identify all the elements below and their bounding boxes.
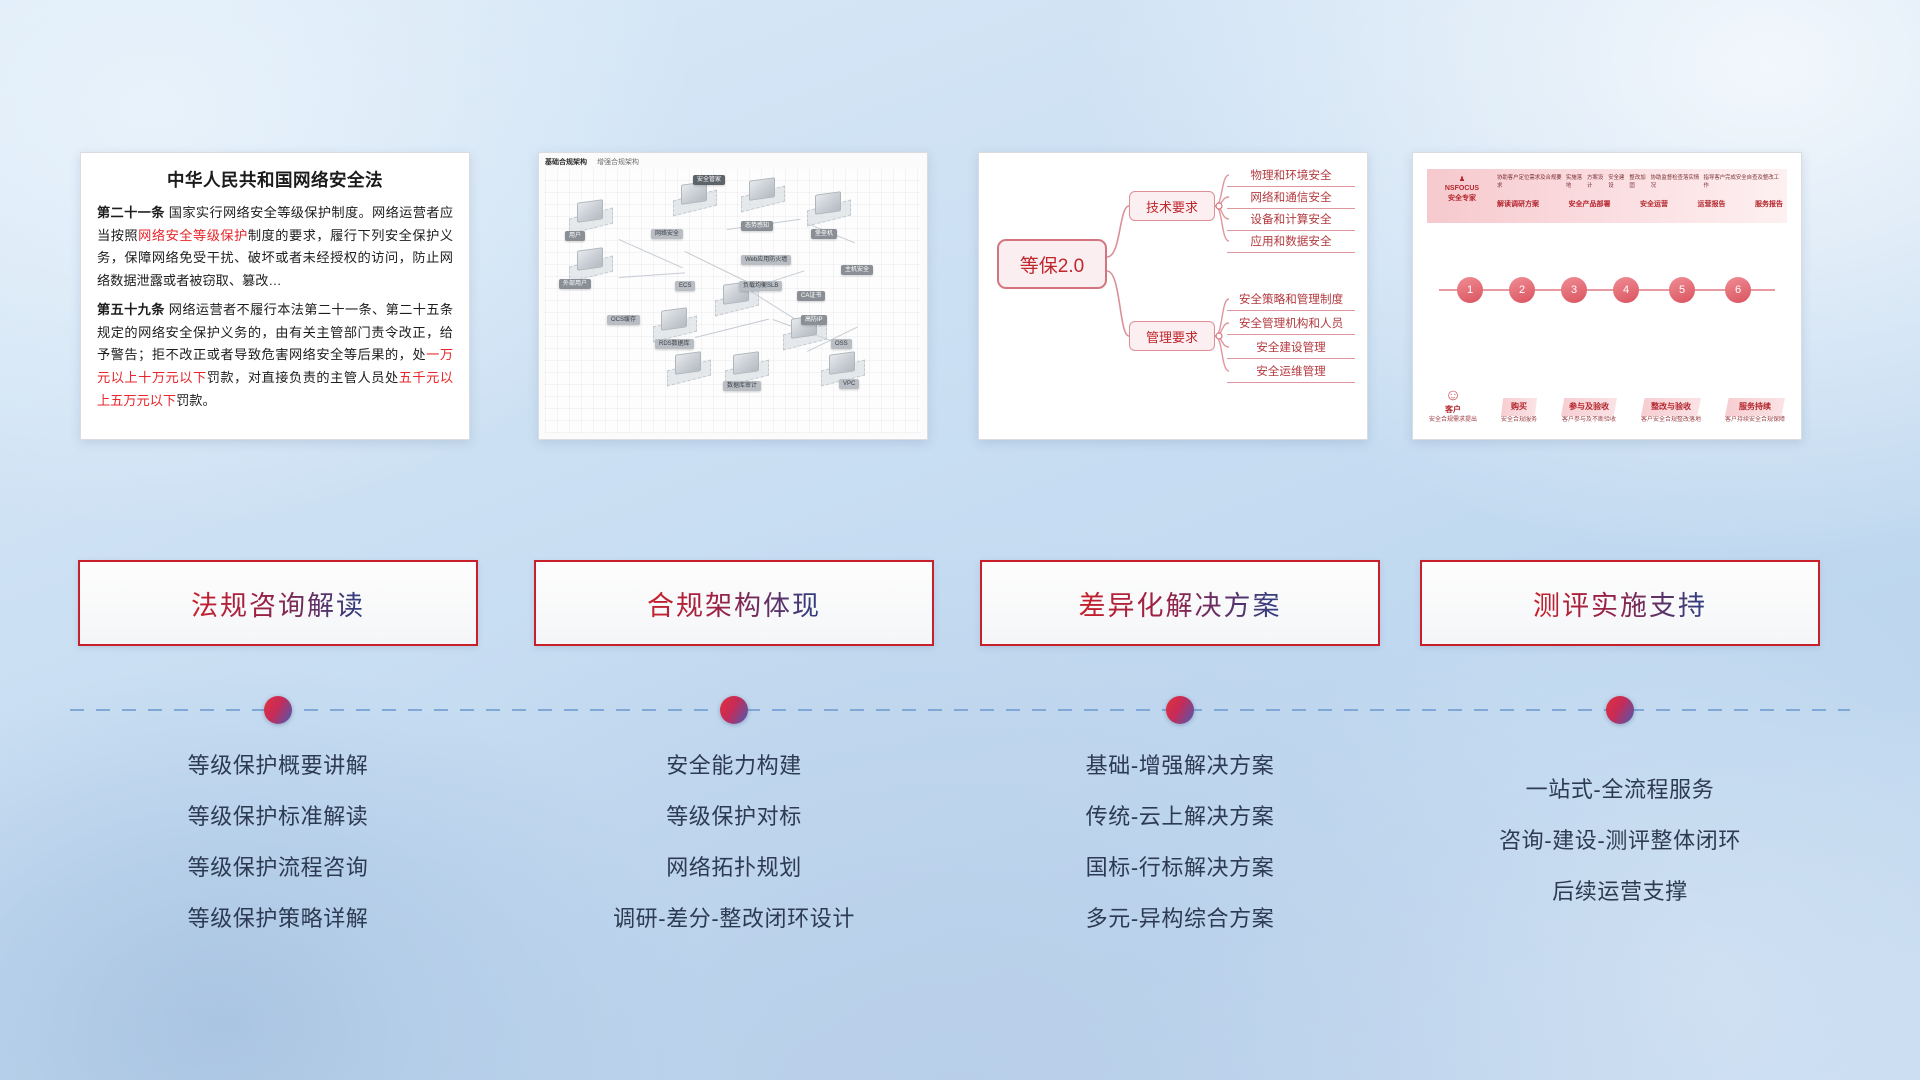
timeline-dot-3[interactable] — [1166, 696, 1194, 724]
arch-node-label: 负载均衡SLB — [739, 281, 782, 291]
mindmap-leaf: 设备和计算安全 — [1227, 211, 1355, 231]
timeline-dashed-line — [70, 709, 1850, 711]
image-cards-row: 中华人民共和国网络安全法 第二十一条 国家实行网络安全等级保护制度。网络运营者应… — [0, 152, 1920, 444]
arch-node-icon — [749, 177, 775, 201]
arch-node-label: 用户 — [565, 231, 585, 241]
roadmap-canvas: ♟ NSFOCUS 安全专家 协助客户定位需求及合规要求 实施落地 方案设计 安… — [1413, 153, 1801, 439]
arch-node-label: 数据库审计 — [723, 381, 761, 391]
card-law-document[interactable]: 中华人民共和国网络安全法 第二十一条 国家实行网络安全等级保护制度。网络运营者应… — [80, 152, 470, 440]
category-boxes-row: 法规咨询解读 合规架构体现 差异化解决方案 测评实施支持 — [0, 560, 1920, 650]
slide-canvas: 中华人民共和国网络安全法 第二十一条 国家实行网络安全等级保护制度。网络运营者应… — [0, 0, 1920, 1080]
arch-node-label: 态势感知 — [741, 221, 773, 231]
roadmap-footer-item: 参与及验收 客户参与及不断验收 — [1561, 398, 1617, 425]
arch-link — [619, 272, 685, 278]
list-item: 基础-增强解决方案 — [980, 740, 1380, 791]
list-item: 后续运营支撑 — [1420, 866, 1820, 917]
roadmap-footer-item: 整改与验收 客户安全合规整改落地 — [1641, 398, 1701, 425]
arch-node-label: RDS数据库 — [655, 339, 694, 349]
arch-node-icon — [829, 351, 855, 375]
arch-node-label: 高防IP — [801, 315, 827, 325]
roadmap-head-item: 指导客户完成安全自查及整改工作 — [1704, 173, 1783, 189]
architecture-tabs: 基础合规架构 增强合规架构 — [545, 157, 639, 167]
card-service-roadmap[interactable]: ♟ NSFOCUS 安全专家 协助客户定位需求及合规要求 实施落地 方案设计 安… — [1412, 152, 1802, 440]
roadmap-step: 2 — [1509, 277, 1535, 303]
roadmap-head-item: 实施落地 — [1566, 173, 1587, 189]
roadmap-footer-item-title: 服务持续 — [1725, 398, 1785, 416]
mindmap-leaf: 安全建设管理 — [1227, 339, 1355, 359]
roadmap-step: 6 — [1725, 277, 1751, 303]
law-article-21: 第二十一条 国家实行网络安全等级保护制度。网络运营者应当按照网络安全等级保护制度… — [97, 202, 453, 293]
timeline-dot-1[interactable] — [264, 696, 292, 724]
architecture-canvas-wrap: 基础合规架构 增强合规架构 — [539, 153, 927, 439]
roadmap-sub-item: 运营报告 — [1698, 199, 1726, 209]
list-item: 国标-行标解决方案 — [980, 842, 1380, 893]
mindmap-leaf: 物理和环境安全 — [1227, 167, 1355, 187]
list-item: 调研-差分-整改闭环设计 — [534, 893, 934, 944]
category-label: 法规咨询解读 — [191, 584, 365, 623]
list-item: 咨询-建设-测评整体闭环 — [1420, 815, 1820, 866]
roadmap-brand-line1: NSFOCUS — [1433, 184, 1491, 193]
roadmap-client-caption: 安全合规需求提出 — [1429, 416, 1477, 425]
mindmap-leaf: 网络和通信安全 — [1227, 189, 1355, 209]
roadmap-sub-items: 解读调研方案 安全产品部署 安全运营 运营报告 服务报告 — [1497, 199, 1783, 209]
roadmap-step: 3 — [1561, 277, 1587, 303]
arch-node-label: OCS缓存 — [607, 315, 640, 325]
arch-node-label: 网络安全 — [651, 229, 683, 239]
list-item: 等级保护概要讲解 — [78, 740, 478, 791]
mindmap-leaf: 安全策略和管理制度 — [1227, 291, 1355, 311]
detail-list-differentiated-solution: 基础-增强解决方案 传统-云上解决方案 国标-行标解决方案 多元-异构综合方案 — [980, 740, 1380, 944]
arch-node-label: VPC — [839, 379, 859, 389]
arch-node-label: ECS — [675, 281, 695, 291]
client-person-icon: ☺ — [1429, 388, 1477, 404]
roadmap-head-item: 安全建设 — [1608, 173, 1629, 189]
list-item: 等级保护流程咨询 — [78, 842, 478, 893]
arch-node-label: 主机安全 — [841, 265, 873, 275]
timeline-dot-2[interactable] — [720, 696, 748, 724]
detail-list-assessment-support: 一站式-全流程服务 咨询-建设-测评整体闭环 后续运营支撑 — [1420, 764, 1820, 917]
category-box-regulation-consulting[interactable]: 法规咨询解读 — [78, 560, 478, 646]
architecture-tab-enhanced[interactable]: 增强合规架构 — [597, 157, 639, 167]
article-21-label: 第二十一条 — [97, 205, 165, 220]
law-title: 中华人民共和国网络安全法 — [97, 167, 453, 192]
mindmap-leaf: 安全运维管理 — [1227, 363, 1355, 383]
roadmap-head-item: 协助客户定位需求及合规要求 — [1497, 173, 1566, 189]
roadmap-sub-item: 解读调研方案 — [1497, 199, 1539, 209]
arch-node-icon — [661, 307, 687, 331]
article-59-text-3: 罚款。 — [176, 393, 216, 408]
roadmap-head-items: 协助客户定位需求及合规要求 实施落地 方案设计 安全建设 整改加固 协助监督检查… — [1497, 173, 1783, 189]
roadmap-sub-item: 安全运营 — [1640, 199, 1668, 209]
category-label: 差异化解决方案 — [1079, 584, 1282, 623]
arch-node-icon — [577, 247, 603, 271]
list-item: 一站式-全流程服务 — [1420, 764, 1820, 815]
list-item: 网络拓扑规划 — [534, 842, 934, 893]
arch-node-icon — [577, 199, 603, 223]
roadmap-footer-item: 购买 安全合规服务 — [1501, 398, 1537, 425]
list-item: 传统-云上解决方案 — [980, 791, 1380, 842]
mindmap-root-node: 等保2.0 — [997, 239, 1107, 289]
roadmap-client-title: 客户 — [1429, 404, 1477, 416]
roadmap-head-item: 协助监督检查落实情况 — [1651, 173, 1704, 189]
list-item: 等级保护标准解读 — [78, 791, 478, 842]
timeline-dot-4[interactable] — [1606, 696, 1634, 724]
mindmap-branch-management: 管理要求 — [1129, 321, 1215, 351]
mindmap-branch-technical: 技术要求 — [1129, 191, 1215, 221]
category-box-compliance-architecture[interactable]: 合规架构体现 — [534, 560, 934, 646]
roadmap-footer-item: 服务持续 客户持续安全合规保障 — [1725, 398, 1785, 425]
arch-node-label: 外部用户 — [559, 279, 591, 289]
law-card-body: 中华人民共和国网络安全法 第二十一条 国家实行网络安全等级保护制度。网络运营者应… — [81, 153, 469, 426]
card-mindmap[interactable]: 等保2.0 技术要求 管理要求 物理和环境安全 网络和通信安全 设备和计算安全 … — [978, 152, 1368, 440]
architecture-tab-basic[interactable]: 基础合规架构 — [545, 157, 587, 167]
arch-node-label: Web应用防火墙 — [741, 255, 791, 265]
arch-node-label: 堡垒机 — [811, 229, 837, 239]
category-label: 测评实施支持 — [1533, 584, 1707, 623]
law-article-59: 第五十九条 网络运营者不履行本法第二十一条、第二十五条规定的网络安全保护义务的，… — [97, 299, 453, 413]
roadmap-footer-item-caption: 安全合规服务 — [1501, 416, 1537, 425]
category-box-assessment-support[interactable]: 测评实施支持 — [1420, 560, 1820, 646]
roadmap-step: 1 — [1457, 277, 1483, 303]
mindmap-leaf: 应用和数据安全 — [1227, 233, 1355, 253]
roadmap-head-item: 方案设计 — [1587, 173, 1608, 189]
arch-node-label: OSS — [831, 339, 852, 349]
list-item: 多元-异构综合方案 — [980, 893, 1380, 944]
architecture-canvas: 安全管家 用户 外部用户 网络安全 态势感知 堡垒机 主机安全 Web应用防火墙… — [545, 169, 921, 433]
roadmap-sub-item: 安全产品部署 — [1569, 199, 1611, 209]
roadmap-footer: ☺ 客户 安全合规需求提出 购买 安全合规服务 参与及验收 客户参与及不断验收 … — [1429, 388, 1785, 425]
roadmap-brand-icon: ♟ — [1433, 175, 1491, 184]
list-item: 安全能力构建 — [534, 740, 934, 791]
arch-link — [685, 251, 747, 282]
roadmap-head-item: 整改加固 — [1629, 173, 1650, 189]
roadmap-footer-client: ☺ 客户 安全合规需求提出 — [1429, 388, 1477, 425]
detail-lists: 等级保护概要讲解 等级保护标准解读 等级保护流程咨询 等级保护策略详解 安全能力… — [0, 740, 1920, 960]
roadmap-footer-item-caption: 客户安全合规整改落地 — [1641, 416, 1701, 425]
roadmap-footer-item-title: 整改与验收 — [1641, 398, 1701, 416]
mindmap-canvas: 等保2.0 技术要求 管理要求 物理和环境安全 网络和通信安全 设备和计算安全 … — [979, 153, 1367, 439]
roadmap-footer-item-title: 购买 — [1501, 398, 1537, 416]
arch-node-icon — [675, 351, 701, 375]
roadmap-sub-item: 服务报告 — [1755, 199, 1783, 209]
card-architecture-diagram[interactable]: 基础合规架构 增强合规架构 — [538, 152, 928, 440]
arch-node-icon — [733, 351, 759, 375]
category-box-differentiated-solution[interactable]: 差异化解决方案 — [980, 560, 1380, 646]
list-item: 等级保护对标 — [534, 791, 934, 842]
arch-node-label: CA证书 — [797, 291, 825, 301]
article-59-text-2: 罚款，对直接负责的主管人员处 — [207, 370, 399, 385]
category-label: 合规架构体现 — [647, 584, 821, 623]
roadmap-footer-item-title: 参与及验收 — [1561, 398, 1617, 416]
arch-link — [695, 319, 769, 338]
arch-link — [619, 239, 683, 268]
detail-list-compliance-architecture: 安全能力构建 等级保护对标 网络拓扑规划 调研-差分-整改闭环设计 — [534, 740, 934, 944]
roadmap-step: 4 — [1613, 277, 1639, 303]
arch-node-label: 安全管家 — [693, 175, 725, 185]
roadmap-footer-item-caption: 客户参与及不断验收 — [1561, 416, 1617, 425]
mindmap-leaf: 安全管理机构和人员 — [1227, 315, 1355, 335]
detail-list-regulation-consulting: 等级保护概要讲解 等级保护标准解读 等级保护流程咨询 等级保护策略详解 — [78, 740, 478, 944]
arch-node-icon — [815, 191, 841, 215]
roadmap-brand: ♟ NSFOCUS 安全专家 — [1433, 175, 1491, 203]
roadmap-brand-line2: 安全专家 — [1433, 194, 1491, 203]
timeline — [0, 690, 1920, 730]
article-59-label: 第五十九条 — [97, 302, 165, 317]
list-item: 等级保护策略详解 — [78, 893, 478, 944]
roadmap-step: 5 — [1669, 277, 1695, 303]
roadmap-footer-item-caption: 客户持续安全合规保障 — [1725, 416, 1785, 425]
article-21-highlight: 网络安全等级保护 — [138, 228, 248, 243]
